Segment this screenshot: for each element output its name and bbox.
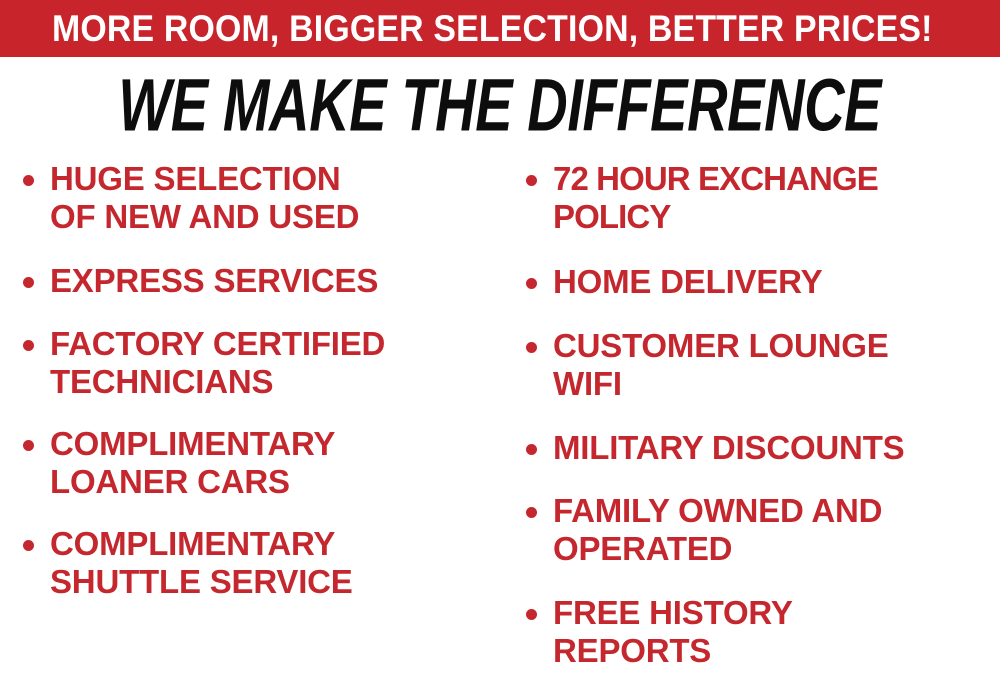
list-item: FREE HISTORY REPORTS (521, 594, 1000, 670)
list-item-label: COMPLIMENTARY SHUTTLE SERVICE (50, 525, 508, 601)
promo-poster: MORE ROOM, BIGGER SELECTION, BETTER PRIC… (0, 0, 1000, 694)
bullet-dot-icon (23, 540, 34, 551)
bullet-dot-icon (526, 507, 537, 518)
bullet-dot-icon (526, 175, 537, 186)
list-item-label: MILITARY DISCOUNTS (553, 429, 1000, 467)
list-item-label: EXPRESS SERVICES (50, 262, 508, 300)
list-item-label: CUSTOMER LOUNGE WIFI (553, 327, 1000, 403)
bullet-dot-icon (23, 175, 34, 186)
bullet-dot-icon (23, 340, 34, 351)
bullet-dot-icon (23, 440, 34, 451)
bullet-dot-icon (526, 342, 537, 353)
bullet-dot-icon (526, 278, 537, 289)
list-item: COMPLIMENTARY SHUTTLE SERVICE (18, 525, 508, 601)
list-item: MILITARY DISCOUNTS (521, 429, 1000, 467)
list-item-label: FACTORY CERTIFIED TECHNICIANS (50, 325, 508, 401)
list-item: 72 HOUR EXCHANGE POLICY (521, 160, 1000, 236)
page-title: WE MAKE THE DIFFERENCE (0, 69, 1000, 141)
page-title-text: WE MAKE THE DIFFERENCE (119, 67, 882, 143)
benefits-column-left: HUGE SELECTION OF NEW AND USED EXPRESS S… (18, 160, 508, 601)
bullet-dot-icon (526, 444, 537, 455)
list-item: HOME DELIVERY (521, 263, 1000, 301)
list-item: HUGE SELECTION OF NEW AND USED (18, 160, 508, 236)
bullet-dot-icon (526, 609, 537, 620)
bullet-dot-icon (23, 277, 34, 288)
list-item: EXPRESS SERVICES (18, 262, 508, 300)
benefits-column-right: 72 HOUR EXCHANGE POLICY HOME DELIVERY CU… (521, 160, 1000, 670)
list-item-label: HUGE SELECTION OF NEW AND USED (50, 160, 508, 236)
list-item: FACTORY CERTIFIED TECHNICIANS (18, 325, 508, 401)
top-banner: MORE ROOM, BIGGER SELECTION, BETTER PRIC… (0, 0, 1000, 57)
list-item-label: HOME DELIVERY (553, 263, 1000, 301)
list-item-label: 72 HOUR EXCHANGE POLICY (553, 160, 1000, 236)
list-item-label: FAMILY OWNED AND OPERATED (553, 492, 1000, 568)
banner-headline-text: MORE ROOM, BIGGER SELECTION, BETTER PRIC… (52, 7, 876, 50)
list-item-label: COMPLIMENTARY LOANER CARS (50, 425, 508, 501)
list-item: COMPLIMENTARY LOANER CARS (18, 425, 508, 501)
list-item: CUSTOMER LOUNGE WIFI (521, 327, 1000, 403)
list-item-label: FREE HISTORY REPORTS (553, 594, 1000, 670)
list-item: FAMILY OWNED AND OPERATED (521, 492, 1000, 568)
